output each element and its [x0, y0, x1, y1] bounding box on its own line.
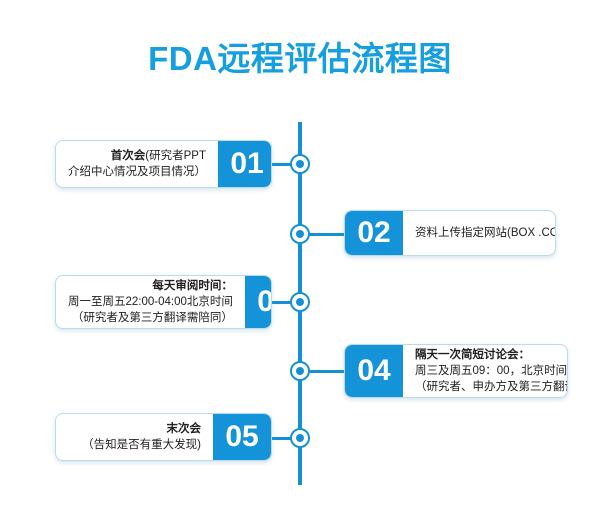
step-03-line-2: 周一至周五22:00-04:00北京时间 — [68, 294, 233, 310]
step-04-line-2: 周三及周五09：00，北京时间 — [415, 363, 567, 379]
step-03-card[interactable]: 每天审阅时间： 周一至周五22:00-04:00北京时间 （研究者及第三方翻译需… — [55, 275, 272, 329]
step-03-line-3: （研究者及第三方翻译需陪同） — [72, 310, 233, 326]
step-04-number: 04 — [345, 345, 403, 397]
step-01-text: 首次会(研究者PPT 介绍中心情况及项目情况） — [56, 141, 218, 187]
step-03-number: 03 — [245, 276, 272, 328]
page-title: FDA远程评估流程图 — [0, 38, 600, 80]
timeline-node-03 — [290, 292, 310, 312]
step-02-text: 资料上传指定网站(BOX .COM) — [403, 211, 556, 255]
step-04[interactable]: 04 隔天一次简短讨论会： 周三及周五09：00，北京时间 （研究者、申办方及第… — [344, 344, 568, 398]
step-01-line-1: 首次会(研究者PPT — [111, 148, 206, 164]
timeline-node-05 — [290, 428, 310, 448]
step-03-line-1: 每天审阅时间： — [152, 278, 233, 294]
step-05-line-2: （告知是否有重大发现) — [82, 437, 201, 453]
timeline-node-02 — [290, 224, 310, 244]
step-03[interactable]: 每天审阅时间： 周一至周五22:00-04:00北京时间 （研究者及第三方翻译需… — [55, 275, 272, 329]
step-04-line-3: （研究者、申办方及第三方翻译需参加） — [415, 379, 568, 395]
step-02-card[interactable]: 02 资料上传指定网站(BOX .COM) — [344, 210, 556, 256]
step-02-number: 02 — [345, 211, 403, 255]
step-01-number: 01 — [218, 141, 272, 187]
timeline-node-04 — [290, 361, 310, 381]
step-05[interactable]: 末次会 （告知是否有重大发现) 05 — [55, 413, 272, 461]
step-05-line-1: 末次会 — [167, 421, 202, 437]
step-05-card[interactable]: 末次会 （告知是否有重大发现) 05 — [55, 413, 272, 461]
step-05-number: 05 — [213, 414, 271, 460]
step-01[interactable]: 首次会(研究者PPT 介绍中心情况及项目情况） 01 — [55, 140, 272, 188]
step-04-text: 隔天一次简短讨论会： 周三及周五09：00，北京时间 （研究者、申办方及第三方翻… — [403, 345, 568, 397]
step-01-card[interactable]: 首次会(研究者PPT 介绍中心情况及项目情况） 01 — [55, 140, 272, 188]
step-02[interactable]: 02 资料上传指定网站(BOX .COM) — [344, 210, 556, 256]
step-05-text: 末次会 （告知是否有重大发现) — [56, 414, 213, 460]
step-04-line-1: 隔天一次简短讨论会： — [415, 347, 530, 363]
step-04-card[interactable]: 04 隔天一次简短讨论会： 周三及周五09：00，北京时间 （研究者、申办方及第… — [344, 344, 568, 398]
step-02-line-1: 资料上传指定网站(BOX .COM) — [415, 225, 556, 241]
step-03-text: 每天审阅时间： 周一至周五22:00-04:00北京时间 （研究者及第三方翻译需… — [56, 276, 245, 328]
step-01-line-2: 介绍中心情况及项目情况） — [68, 164, 206, 180]
timeline-node-01 — [290, 154, 310, 174]
flowchart-canvas: FDA远程评估流程图 首次会(研究者PPT 介绍中心情况及项目情况） 01 02… — [0, 0, 600, 516]
